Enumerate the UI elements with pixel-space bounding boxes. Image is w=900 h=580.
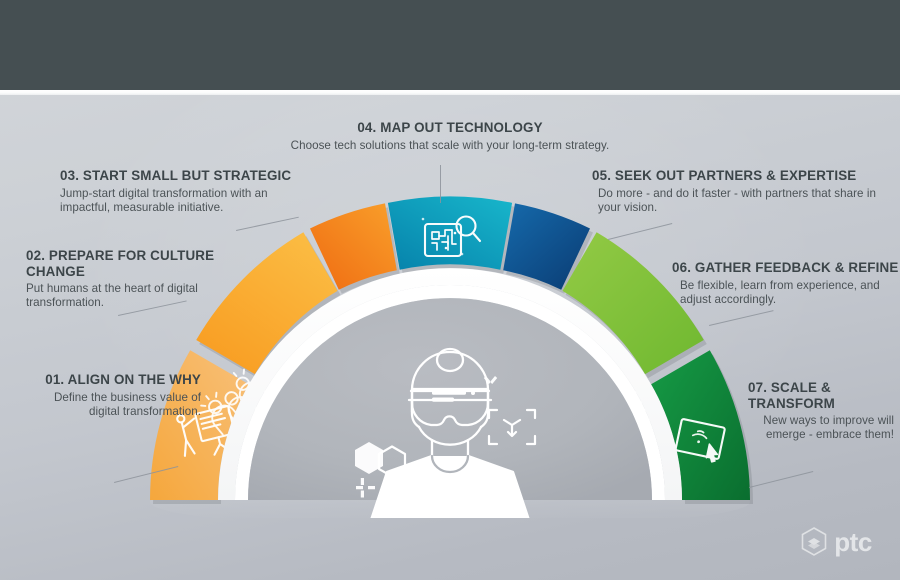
step-label-01[interactable]: 01. ALIGN ON THE WHY Define the business… (26, 372, 201, 419)
step-title-01: 01. ALIGN ON THE WHY (26, 372, 201, 388)
step-label-07[interactable]: 07. SCALE & TRANSFORM New ways to improv… (748, 380, 894, 442)
step-body-01: Define the business value of digital tra… (26, 391, 201, 419)
step-label-03[interactable]: 03. START SMALL BUT STRATEGIC Jump-start… (60, 168, 320, 215)
infographic-root: DIGITAL TRANSFORMATION STRATEGY 7 ESSENT… (0, 0, 900, 580)
step-title-04: 04. MAP OUT TECHNOLOGY (280, 120, 620, 136)
step-body-03: Jump-start digital transformation with a… (60, 187, 320, 215)
step-title-06: 06. GATHER FEEDBACK & REFINE (672, 260, 897, 276)
step-title-05: 05. SEEK OUT PARTNERS & EXPERTISE (592, 168, 892, 184)
connector-line-04 (440, 165, 441, 203)
step-body-05: Do more - and do it faster - with partne… (592, 187, 892, 215)
step-body-04: Choose tech solutions that scale with yo… (280, 139, 620, 153)
ptc-hexagon-logo-icon (801, 527, 827, 556)
header-divider-rule (0, 90, 900, 95)
step-title-02: 02. PREPARE FOR CULTURE CHANGE (26, 248, 216, 279)
step-label-05[interactable]: 05. SEEK OUT PARTNERS & EXPERTISE Do mor… (592, 168, 892, 215)
segment-04-map-out-technology[interactable] (388, 196, 512, 269)
brand-name: ptc (834, 529, 872, 555)
step-label-04[interactable]: 04. MAP OUT TECHNOLOGY Choose tech solut… (280, 120, 620, 153)
step-title-03: 03. START SMALL BUT STRATEGIC (60, 168, 320, 184)
brand-logo: ptc (801, 527, 872, 556)
step-body-07: New ways to improve will emerge - embrac… (748, 414, 894, 442)
step-title-07: 07. SCALE & TRANSFORM (748, 380, 894, 411)
step-label-02[interactable]: 02. PREPARE FOR CULTURE CHANGE Put human… (26, 248, 216, 310)
step-body-02: Put humans at the heart of digital trans… (26, 282, 216, 310)
step-body-06: Be flexible, learn from experience, and … (672, 279, 897, 307)
step-label-06[interactable]: 06. GATHER FEEDBACK & REFINE Be flexible… (672, 260, 897, 307)
header-band (0, 0, 900, 90)
